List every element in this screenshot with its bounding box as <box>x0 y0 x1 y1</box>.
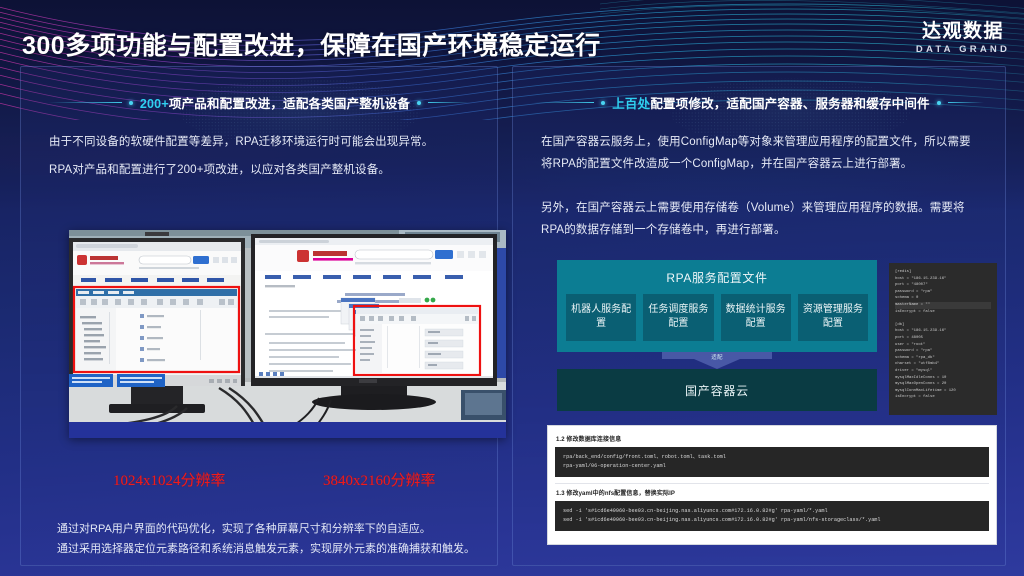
right-body-text-1: 在国产容器云服务上，使用ConfigMap等对象来管理应用程序的配置文件，所以需… <box>541 131 981 181</box>
right-paragraph-1: 在国产容器云服务上，使用ConfigMap等对象来管理应用程序的配置文件，所以需… <box>541 131 981 175</box>
left-content-panel: 200+项产品和配置改进，适配各类国产整机设备 由于不同设备的软硬件配置等差异，… <box>20 66 498 566</box>
diagram-box-robot-service: 机器人服务配置 <box>566 294 636 341</box>
right-heading-text: 上百处配置项修改，适配国产容器、服务器和缓存中间件 <box>612 93 930 112</box>
config-line-blank <box>895 315 991 322</box>
config-line: password = "rpa" <box>895 289 991 296</box>
page-title: 300多项功能与配置改进，保障在国产环境稳定运行 <box>22 26 601 62</box>
config-line: host = "186.15.239.16" <box>895 328 991 335</box>
architecture-diagram: RPA服务配置文件 机器人服务配置 任务调度服务配置 数据统计服务配置 资源管理… <box>557 260 877 411</box>
config-line: [redis] <box>895 269 991 276</box>
diagram-arrow-region: 适配 <box>557 352 877 369</box>
config-line: driver = "mysql" <box>895 368 991 375</box>
code-section-title-2: 1.3 修改yaml中的nfs配置信息，替换实际IP <box>556 488 989 497</box>
config-line: port = 48005 <box>895 335 991 342</box>
code-line: sed -i 's#1cd6e49960-bee93.cn-beijing.na… <box>563 516 981 525</box>
config-line: isEncrypt = false <box>895 394 991 401</box>
left-paragraph-2: RPA对产品和配置进行了200+项改进，以应对各类国产整机设备。 <box>49 159 473 181</box>
left-bottom-paragraph-2: 通过采用选择器定位元素路径和系统消息触发元素，实现屏外元素的准确捕获和触发。 <box>57 539 477 559</box>
config-line: mysqlConnMaxLifetime = 120 <box>895 388 991 395</box>
left-heading-highlight: 200+ <box>140 97 169 111</box>
photo-caption-right: 3840x2160分辨率 <box>323 473 443 490</box>
code-block-1: rpa/back_end/config/front.toml、robot.tom… <box>555 447 989 477</box>
logo-text-cn: 达观数据 <box>916 22 1010 41</box>
left-paragraph-1: 由于不同设备的软硬件配置等差异，RPA迁移环境运行时可能会出现异常。 <box>49 131 473 153</box>
config-line: isEncrypt = false <box>895 309 991 316</box>
left-heading-text: 200+项产品和配置改进，适配各类国产整机设备 <box>140 93 410 112</box>
left-bottom-text: 通过对RPA用户界面的代码优化，实现了各种屏幕尺寸和分辨率下的自适应。 通过采用… <box>57 519 477 559</box>
diagram-box-task-scheduler: 任务调度服务配置 <box>643 294 713 341</box>
right-body-text-2: 另外，在国产容器云上需要使用存储卷（Volume）来管理应用程序的数据。需要将R… <box>541 197 981 247</box>
code-section-title-1: 1.2 修改数据库连接信息 <box>556 434 989 443</box>
config-line: mysqlMaxOpenConns = 20 <box>895 381 991 388</box>
code-line: rpa-yaml/06-operation-center.yaml <box>563 462 981 471</box>
code-line: sed -i 's#1cd6e49960-bee93.cn-beijing.na… <box>563 507 981 516</box>
brand-logo: 达观数据 DATA GRAND <box>916 22 1010 55</box>
config-line: port = "48007" <box>895 282 991 289</box>
config-file-preview: [redis] host = "186.15.239.16" port = "4… <box>889 263 997 415</box>
left-section-heading: 200+项产品和配置改进，适配各类国产整机设备 <box>21 93 497 112</box>
diagram-top-container: RPA服务配置文件 机器人服务配置 任务调度服务配置 数据统计服务配置 资源管理… <box>557 260 877 352</box>
code-line: rpa/back_end/config/front.toml、robot.tom… <box>563 453 981 462</box>
heading-dot-right-icon-right <box>937 101 941 105</box>
left-bottom-paragraph-1: 通过对RPA用户界面的代码优化，实现了各种屏幕尺寸和分辨率下的自适应。 <box>57 519 477 539</box>
diagram-top-title: RPA服务配置文件 <box>566 269 868 286</box>
left-body-text: 由于不同设备的软硬件配置等差异，RPA迁移环境运行时可能会出现异常。 RPA对产… <box>49 131 473 187</box>
diagram-bottom-container: 国产容器云 <box>557 369 877 411</box>
config-line: mysqlMaxIdleConns = 10 <box>895 375 991 382</box>
right-paragraph-2: 另外，在国产容器云上需要使用存储卷（Volume）来管理应用程序的数据。需要将R… <box>541 197 981 241</box>
deployment-steps-card: 1.2 修改数据库连接信息 rpa/back_end/config/front.… <box>547 425 997 545</box>
config-line: user = "root" <box>895 342 991 349</box>
diagram-box-resource-manager: 资源管理服务配置 <box>798 294 868 341</box>
diagram-arrow-label: 适配 <box>711 353 723 361</box>
heading-dot-left-icon-right <box>601 101 605 105</box>
code-block-2: sed -i 's#1cd6e49960-bee93.cn-beijing.na… <box>555 501 989 531</box>
photo-caption-left: 1024x1024分辨率 <box>113 473 233 490</box>
right-heading-rest: 配置项修改，适配国产容器、服务器和缓存中间件 <box>650 97 929 111</box>
right-section-heading: 上百处配置项修改，适配国产容器、服务器和缓存中间件 <box>513 93 1005 112</box>
slide-header: 300多项功能与配置改进，保障在国产环境稳定运行 达观数据 DATA GRAND <box>0 0 1024 72</box>
card-divider <box>555 483 989 484</box>
right-content-panel: 上百处配置项修改，适配国产容器、服务器和缓存中间件 在国产容器云服务上，使用Co… <box>512 66 1006 566</box>
heading-dot-right-icon <box>417 101 421 105</box>
config-line: schema = "rpa_db" <box>895 355 991 362</box>
diagram-box-data-statistics: 数据统计服务配置 <box>721 294 791 341</box>
config-line-selected: masterName = "" <box>895 302 991 309</box>
config-line: charset = "utf8mb4" <box>895 361 991 368</box>
config-line: host = "186.15.239.16" <box>895 276 991 283</box>
config-line: schema = 0 <box>895 295 991 302</box>
config-line: [db] <box>895 322 991 329</box>
config-line: password = "rpa" <box>895 348 991 355</box>
right-heading-highlight: 上百处 <box>612 97 650 111</box>
dual-monitor-photo <box>69 230 506 438</box>
left-heading-rest: 项产品和配置改进，适配各类国产整机设备 <box>169 97 410 111</box>
heading-dot-left-icon <box>129 101 133 105</box>
logo-text-en: DATA GRAND <box>916 45 1010 55</box>
diagram-service-boxes: 机器人服务配置 任务调度服务配置 数据统计服务配置 资源管理服务配置 <box>566 294 868 341</box>
